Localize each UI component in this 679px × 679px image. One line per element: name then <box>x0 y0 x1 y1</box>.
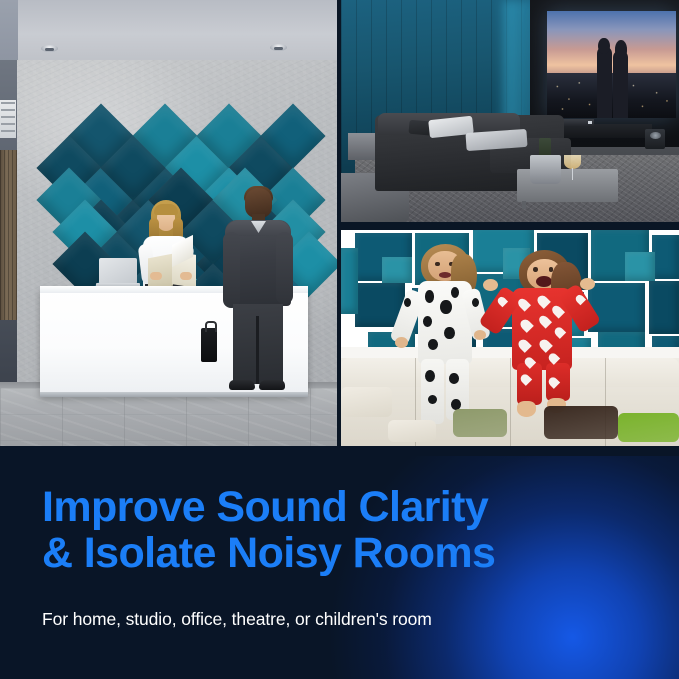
acoustic-square-panel <box>588 283 645 331</box>
promo-banner: Improve Sound Clarity & Isolate Noisy Ro… <box>0 446 679 679</box>
gallery-image-theatre <box>341 0 679 222</box>
headline-line-1: Improve Sound Clarity <box>42 483 488 531</box>
child-hand <box>580 278 595 290</box>
kids-child-heart-onesie <box>496 250 591 422</box>
theatre-projection-screen <box>547 11 675 118</box>
child-eye <box>435 262 439 266</box>
kids-top-edge <box>341 226 679 230</box>
office-ceiling-edge <box>0 0 18 62</box>
office-open-book <box>148 248 196 288</box>
gallery-image-office <box>0 0 337 446</box>
child-leg <box>517 363 542 404</box>
sofa-cushion <box>544 406 618 439</box>
product-marketing-image: Improve Sound Clarity & Isolate Noisy Ro… <box>0 0 679 679</box>
theatre-speaker <box>645 129 665 149</box>
acoustic-square-panel <box>625 252 655 281</box>
kids-child-cow-onesie <box>402 244 490 424</box>
cow-spot <box>428 339 438 350</box>
cow-spot <box>451 287 459 298</box>
child-hand <box>474 330 486 340</box>
theatre-ice-bucket <box>530 155 560 184</box>
child-hand <box>395 337 408 348</box>
office-wood-door <box>0 150 17 320</box>
ceiling-spotlight-icon <box>41 45 58 52</box>
sofa-cushion <box>618 413 679 442</box>
sofa-cushion <box>341 387 392 418</box>
screen-couple-silhouette <box>596 35 629 118</box>
sofa-cushion <box>388 420 435 442</box>
acoustic-square-panel <box>652 235 679 279</box>
cow-spot <box>444 327 455 340</box>
child-hand <box>483 279 498 291</box>
sofa-cushion <box>453 409 507 438</box>
acoustic-square-panel <box>341 248 358 314</box>
office-businessman <box>225 188 291 396</box>
child-leg <box>421 359 444 424</box>
cow-spot <box>440 300 451 314</box>
child-bare-foot <box>517 401 536 416</box>
gallery-image-kids <box>341 226 679 446</box>
cow-spot <box>451 399 461 410</box>
image-gallery <box>0 0 679 446</box>
receptionist-hands <box>150 272 194 281</box>
subtitle: For home, studio, office, theatre, or ch… <box>42 609 679 630</box>
theatre-media-console <box>551 124 652 137</box>
ceiling-spotlight-icon <box>270 44 287 51</box>
theatre-wine-glass <box>564 155 581 179</box>
office-air-vent <box>0 100 16 138</box>
acoustic-square-panel <box>649 281 679 334</box>
office-ceiling <box>0 0 337 62</box>
headline-line-2: & Isolate Noisy Rooms <box>42 530 679 576</box>
cow-spot <box>423 316 432 327</box>
child-eye <box>533 267 538 271</box>
office-briefcase <box>201 328 217 362</box>
page-title: Improve Sound Clarity & Isolate Noisy Ro… <box>42 484 679 576</box>
cow-spot <box>472 298 479 307</box>
